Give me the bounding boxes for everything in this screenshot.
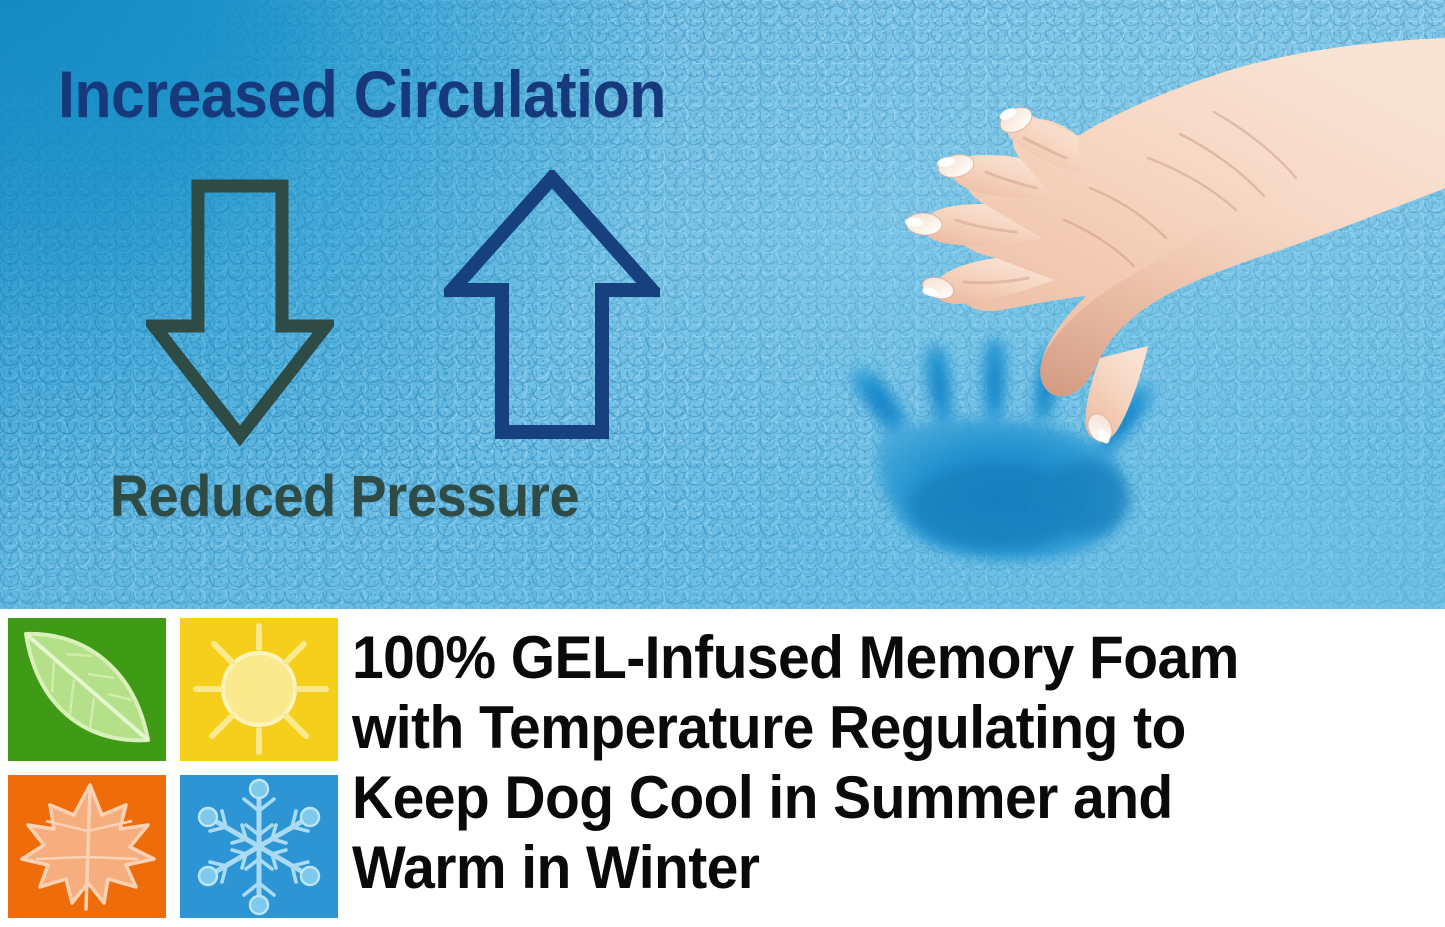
increased-circulation-label: Increased Circulation	[58, 58, 666, 130]
promo-line-2: with Temperature Regulating to	[352, 693, 1388, 763]
leaf-icon	[8, 618, 166, 761]
feature-callout-bar: 100% GEL-Infused Memory Foam with Temper…	[0, 609, 1445, 927]
maple-leaf-icon	[8, 775, 166, 918]
promo-line-4: Warm in Winter	[352, 833, 1388, 903]
season-tile-summer	[180, 618, 338, 761]
sun-icon	[180, 618, 338, 761]
gel-foam-photo-panel: Increased Circulation Reduced Pressure	[0, 0, 1445, 609]
season-tile-winter	[180, 775, 338, 918]
promo-line-1: 100% GEL-Infused Memory Foam	[352, 623, 1388, 693]
season-tile-spring	[8, 618, 166, 761]
snowflake-icon	[180, 775, 338, 918]
hand-photo	[828, 38, 1445, 468]
promo-copy-block: 100% GEL-Infused Memory Foam with Temper…	[352, 623, 1388, 903]
season-tile-autumn	[8, 775, 166, 918]
promo-line-3: Keep Dog Cool in Summer and	[352, 763, 1388, 833]
reduced-pressure-label: Reduced Pressure	[110, 465, 579, 529]
up-arrow-icon	[444, 170, 660, 442]
down-arrow-icon	[146, 178, 334, 446]
four-season-icon-grid	[8, 618, 338, 920]
product-feature-banner: Increased Circulation Reduced Pressure	[0, 0, 1445, 927]
